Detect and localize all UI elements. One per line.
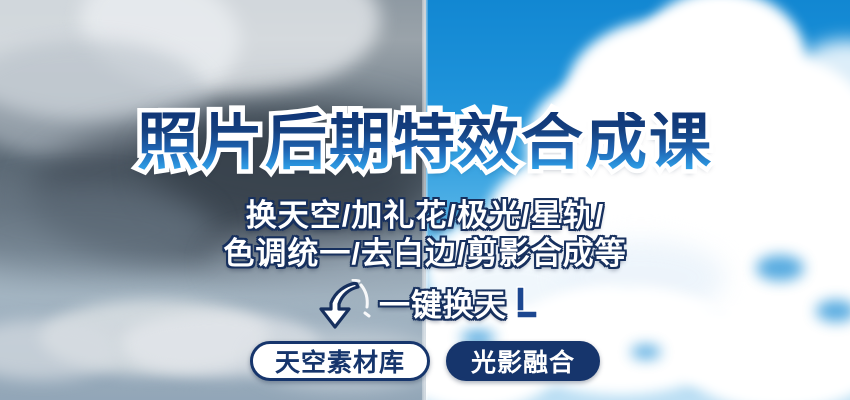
callout-row: 一键换天	[0, 278, 850, 332]
badge-label: 光影融合	[471, 343, 575, 379]
badge-row: 天空素材库 光影融合	[0, 341, 850, 381]
badge-light-shadow-blend[interactable]: 光影融合	[446, 341, 600, 381]
curved-down-arrow-icon	[311, 279, 373, 331]
callout-label: 一键换天	[379, 290, 507, 321]
subtitle-line-2: 色调统一/去白边/剪影合成等	[0, 238, 850, 269]
corner-bracket-icon	[513, 281, 539, 329]
badge-label: 天空素材库	[275, 343, 405, 379]
page-title: 照片后期特效合成课	[0, 112, 850, 174]
badge-sky-library[interactable]: 天空素材库	[250, 341, 430, 381]
promo-banner: 照片后期特效合成课 照片后期特效合成课 换天空/加礼花/极光/星轨/ 色调统一/…	[0, 0, 850, 400]
banner-content: 照片后期特效合成课 照片后期特效合成课 换天空/加礼花/极光/星轨/ 色调统一/…	[0, 0, 850, 400]
subtitle-line-1: 换天空/加礼花/极光/星轨/	[0, 200, 850, 231]
